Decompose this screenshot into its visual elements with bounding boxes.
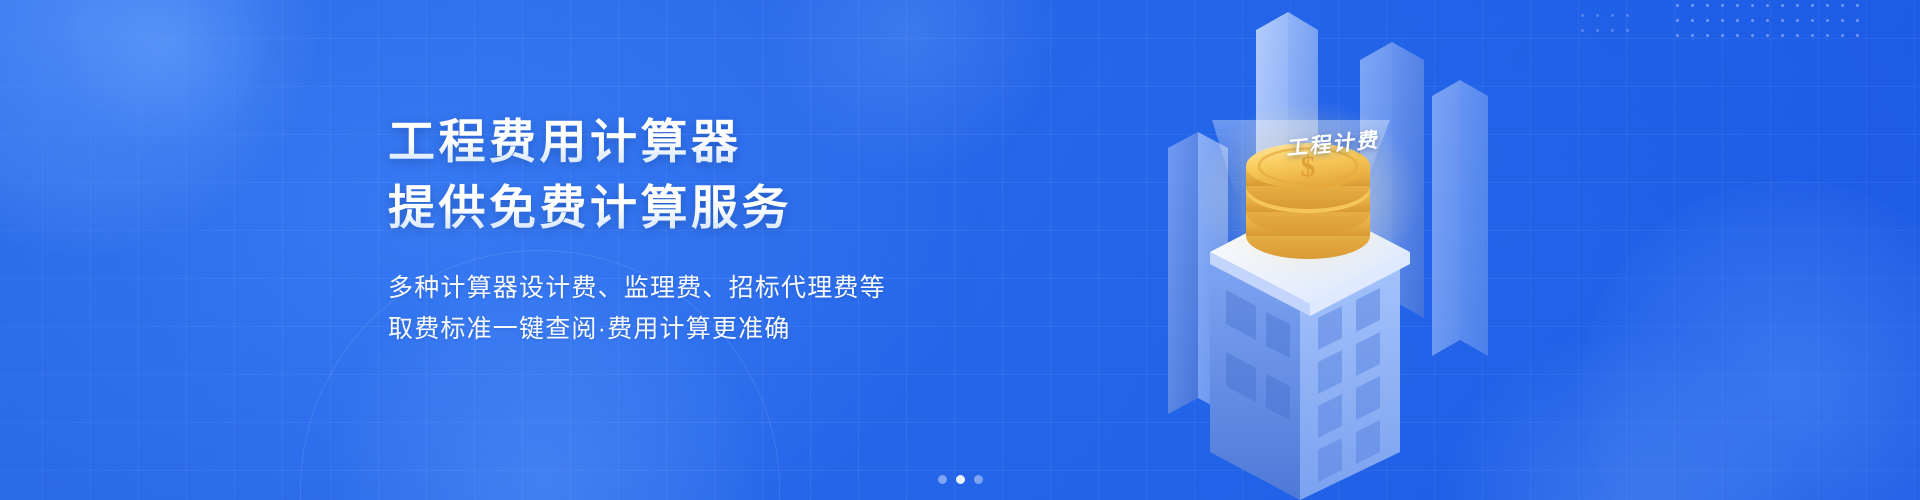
- banner-text-block: 工程费用计算器 提供免费计算服务 多种计算器设计费、监理费、招标代理费等 取费标…: [388, 112, 1108, 350]
- carousel-dot-2[interactable]: [956, 475, 965, 484]
- carousel-indicator[interactable]: [0, 475, 1920, 484]
- banner-illustration: $ 工程计费: [1060, 0, 1580, 500]
- glow-blob-top-left: [0, 0, 320, 255]
- banner-subtitle-line-2: 取费标准一键查阅·费用计算更准确: [388, 309, 1108, 350]
- carousel-dot-1[interactable]: [938, 475, 947, 484]
- carousel-dot-3[interactable]: [974, 475, 983, 484]
- banner-headline-line-1: 工程费用计算器: [388, 112, 1108, 172]
- promo-banner: 工程费用计算器 提供免费计算服务 多种计算器设计费、监理费、招标代理费等 取费标…: [0, 0, 1920, 500]
- glow-blob-top-left-small: [60, 0, 270, 150]
- banner-subtitle-line-1: 多种计算器设计费、监理费、招标代理费等: [388, 268, 1108, 309]
- illustration-svg: $: [1060, 0, 1580, 500]
- glow-blob-right: [1580, 180, 1920, 500]
- dot-matrix-top-right-small: [1575, 8, 1635, 38]
- coin-icon: $: [1246, 143, 1370, 259]
- banner-headline-line-2: 提供免费计算服务: [388, 178, 1108, 238]
- dot-matrix-top-right: [1670, 0, 1870, 44]
